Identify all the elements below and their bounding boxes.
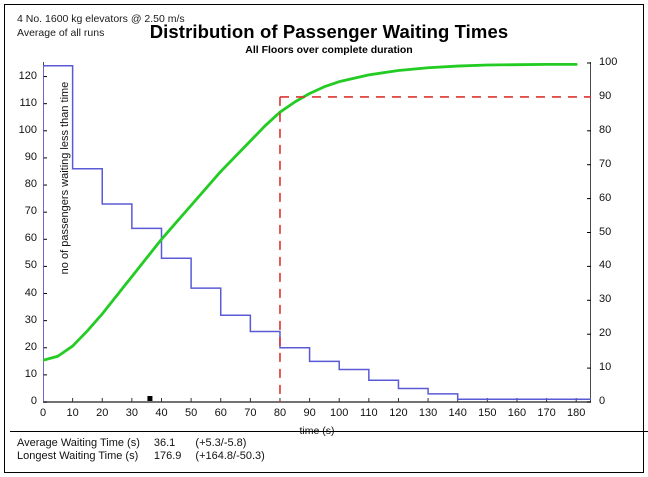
chart-frame: 4 No. 1600 kg elevators @ 2.50 m/s Avera…	[4, 4, 644, 473]
y-left-tick-label: 50	[3, 259, 37, 271]
plot-area: 0102030405060708090100110120 01020304050…	[43, 60, 591, 402]
average-marker	[147, 396, 152, 401]
y-left-tick-label: 90	[3, 151, 37, 163]
cumulative-percent-curve	[43, 64, 576, 360]
plot-svg	[43, 60, 591, 420]
x-tick-label: 50	[176, 407, 206, 419]
y-left-tick-label: 40	[3, 287, 37, 299]
y-left-tick-label: 100	[3, 124, 37, 136]
summary-table: Average Waiting Time (s)36.1(+5.3/-5.8)L…	[17, 437, 265, 463]
y-right-tick-label: 10	[599, 361, 633, 373]
y-left-tick-label: 120	[3, 70, 37, 82]
x-tick-label: 20	[87, 407, 117, 419]
chart-subtitle: All Floors over complete duration	[5, 44, 648, 56]
x-tick-label: 90	[295, 407, 325, 419]
y-right-tick-label: 30	[599, 293, 633, 305]
x-tick-label: 70	[235, 407, 265, 419]
summary-label: Average Waiting Time (s)	[17, 437, 154, 450]
histogram-step-line	[43, 66, 591, 402]
summary-range: (+164.8/-50.3)	[195, 450, 264, 463]
x-tick-label: 150	[472, 407, 502, 419]
chart-title: Distribution of Passenger Waiting Times	[5, 21, 648, 43]
y-right-tick-label: 40	[599, 259, 633, 271]
x-tick-label: 180	[561, 407, 591, 419]
x-tick-label: 80	[265, 407, 295, 419]
y-left-tick-label: 70	[3, 205, 37, 217]
x-tick-label: 10	[58, 407, 88, 419]
summary-range: (+5.3/-5.8)	[195, 437, 264, 450]
y-right-tick-label: 20	[599, 327, 633, 339]
x-tick-label: 120	[383, 407, 413, 419]
y-right-tick-label: 0	[599, 395, 633, 407]
y-right-tick-label: 80	[599, 124, 633, 136]
x-tick-label: 40	[146, 407, 176, 419]
y-left-tick-label: 110	[3, 97, 37, 109]
y-left-tick-label: 60	[3, 232, 37, 244]
footer-divider	[10, 431, 648, 432]
x-tick-label: 160	[502, 407, 532, 419]
y-right-tick-label: 60	[599, 192, 633, 204]
x-tick-label: 60	[206, 407, 236, 419]
summary-row: Average Waiting Time (s)36.1(+5.3/-5.8)	[17, 437, 265, 450]
x-tick-label: 130	[413, 407, 443, 419]
y-right-tick-label: 90	[599, 90, 633, 102]
y-left-tick-label: 20	[3, 341, 37, 353]
y-left-tick-label: 80	[3, 178, 37, 190]
y-left-tick-label: 10	[3, 368, 37, 380]
y-right-tick-label: 100	[599, 56, 633, 68]
summary-value: 176.9	[154, 450, 196, 463]
summary-label: Longest Waiting Time (s)	[17, 450, 154, 463]
y-left-tick-label: 0	[3, 395, 37, 407]
x-tick-label: 140	[443, 407, 473, 419]
x-tick-label: 0	[28, 407, 58, 419]
x-tick-label: 100	[324, 407, 354, 419]
x-tick-label: 30	[117, 407, 147, 419]
x-tick-label: 110	[354, 407, 384, 419]
x-tick-label: 170	[532, 407, 562, 419]
summary-value: 36.1	[154, 437, 196, 450]
y-right-tick-label: 50	[599, 226, 633, 238]
chart-page: 4 No. 1600 kg elevators @ 2.50 m/s Avera…	[0, 0, 648, 477]
y-left-tick-label: 30	[3, 314, 37, 326]
y-right-tick-label: 70	[599, 158, 633, 170]
y-axis-left-label: no of passengers waiting less than time	[59, 38, 71, 318]
summary-row: Longest Waiting Time (s)176.9(+164.8/-50…	[17, 450, 265, 463]
